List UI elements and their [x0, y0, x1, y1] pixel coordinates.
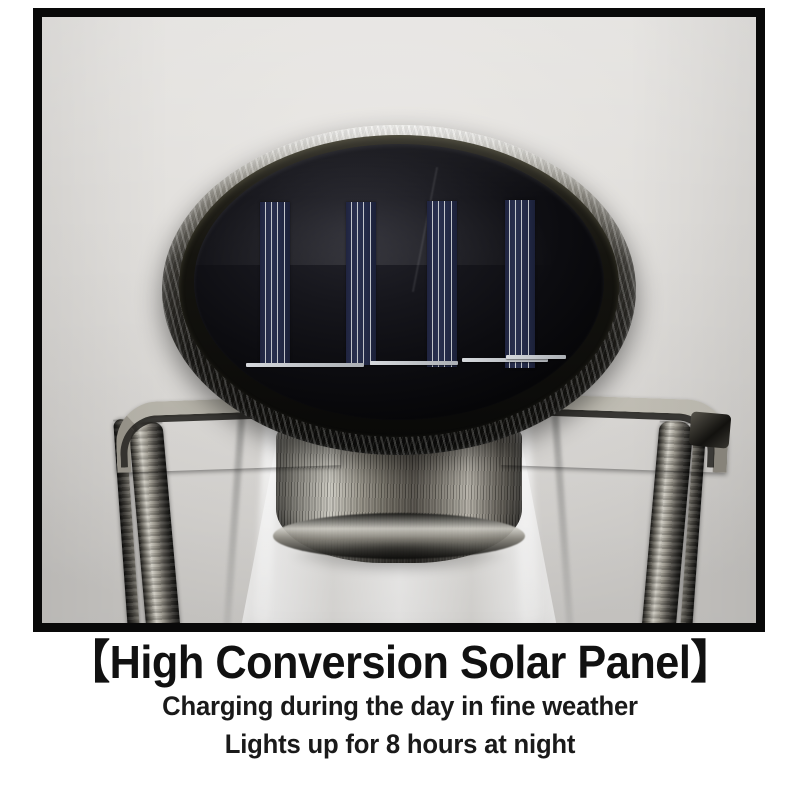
caption-block: 【High Conversion Solar Panel】 Charging d… — [0, 636, 800, 762]
feature-line-2: Lights up for 8 hours at night — [20, 726, 780, 762]
feature-line-1: Charging during the day in fine weather — [20, 688, 780, 724]
product-photo — [42, 17, 756, 623]
product-photo-frame — [33, 8, 765, 632]
product-feature-card: 【High Conversion Solar Panel】 Charging d… — [0, 0, 800, 800]
photo-vignette — [42, 17, 756, 623]
feature-title: 【High Conversion Solar Panel】 — [24, 636, 776, 688]
